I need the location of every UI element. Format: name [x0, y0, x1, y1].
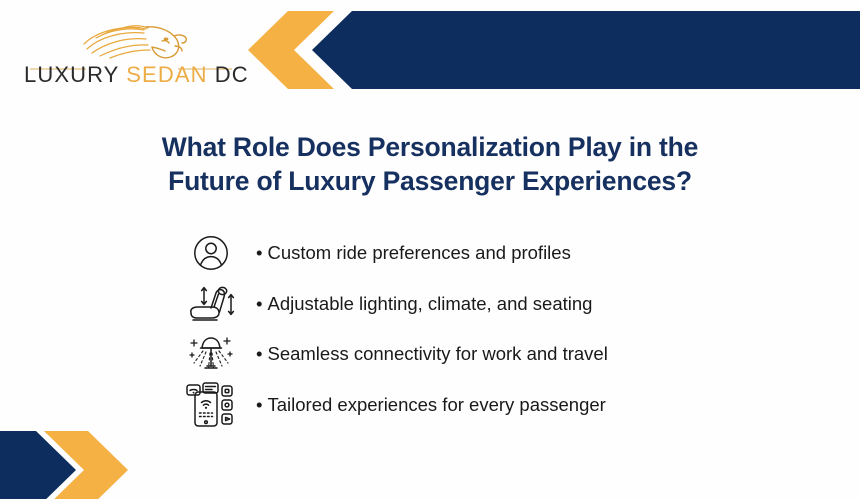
list-item: •Adjustable lighting, climate, and seati…: [180, 279, 800, 330]
list-item-label: •Adjustable lighting, climate, and seati…: [242, 292, 592, 316]
bullet-marker: •: [256, 241, 262, 265]
list-item: •Tailored experiences for every passenge…: [180, 380, 800, 431]
list-item-text: Tailored experiences for every passenger: [267, 394, 605, 415]
logo-word-sedan: SEDAN: [126, 62, 207, 87]
lion-head-icon: [76, 18, 196, 62]
desk-lamp-icon: [180, 331, 242, 377]
list-item: •Seamless connectivity for work and trav…: [180, 329, 800, 380]
navy-chevron-shape: [0, 431, 44, 499]
list-item-label: •Custom ride preferences and profiles: [242, 241, 571, 265]
navy-band-shape: [312, 11, 860, 89]
list-item-text: Custom ride preferences and profiles: [267, 242, 570, 263]
bottom-left-chevron-banner: [0, 409, 200, 499]
logo-word-dc: DC: [215, 62, 249, 87]
list-item: •Custom ride preferences and profiles: [180, 228, 800, 279]
smartphone-wifi-icon: [180, 382, 242, 428]
list-item-text: Seamless connectivity for work and trave…: [267, 343, 607, 364]
logo-word-luxury: LUXURY: [24, 62, 119, 87]
feature-bullet-list: •Custom ride preferences and profiles: [180, 228, 800, 430]
page-title-line-2: Future of Luxury Passenger Experiences?: [70, 164, 790, 198]
list-item-text: Adjustable lighting, climate, and seatin…: [267, 293, 592, 314]
navy-chevron-shape-2: [0, 431, 76, 499]
top-right-chevron-banner: [240, 0, 860, 100]
user-profile-circle-icon: [180, 230, 242, 276]
gold-chevron-shape-2: [250, 11, 334, 89]
adjustable-car-seat-icon: [180, 281, 242, 327]
gold-chevron-shape-bottom: [44, 431, 128, 499]
slide-canvas: LUXURY SEDAN DC What Role Does Personali…: [0, 0, 860, 499]
brand-logo-text: LUXURY SEDAN DC: [24, 62, 234, 88]
brand-logo: LUXURY SEDAN DC: [24, 18, 234, 90]
page-title-line-1: What Role Does Personalization Play in t…: [70, 130, 790, 164]
gold-chevron-shape: [248, 11, 332, 89]
lion-eye: [164, 38, 169, 41]
bullet-marker: •: [256, 342, 262, 366]
bullet-marker: •: [256, 292, 262, 316]
bullet-marker: •: [256, 393, 262, 417]
page-title: What Role Does Personalization Play in t…: [70, 130, 790, 198]
list-item-label: •Seamless connectivity for work and trav…: [242, 342, 608, 366]
list-item-label: •Tailored experiences for every passenge…: [242, 393, 606, 417]
